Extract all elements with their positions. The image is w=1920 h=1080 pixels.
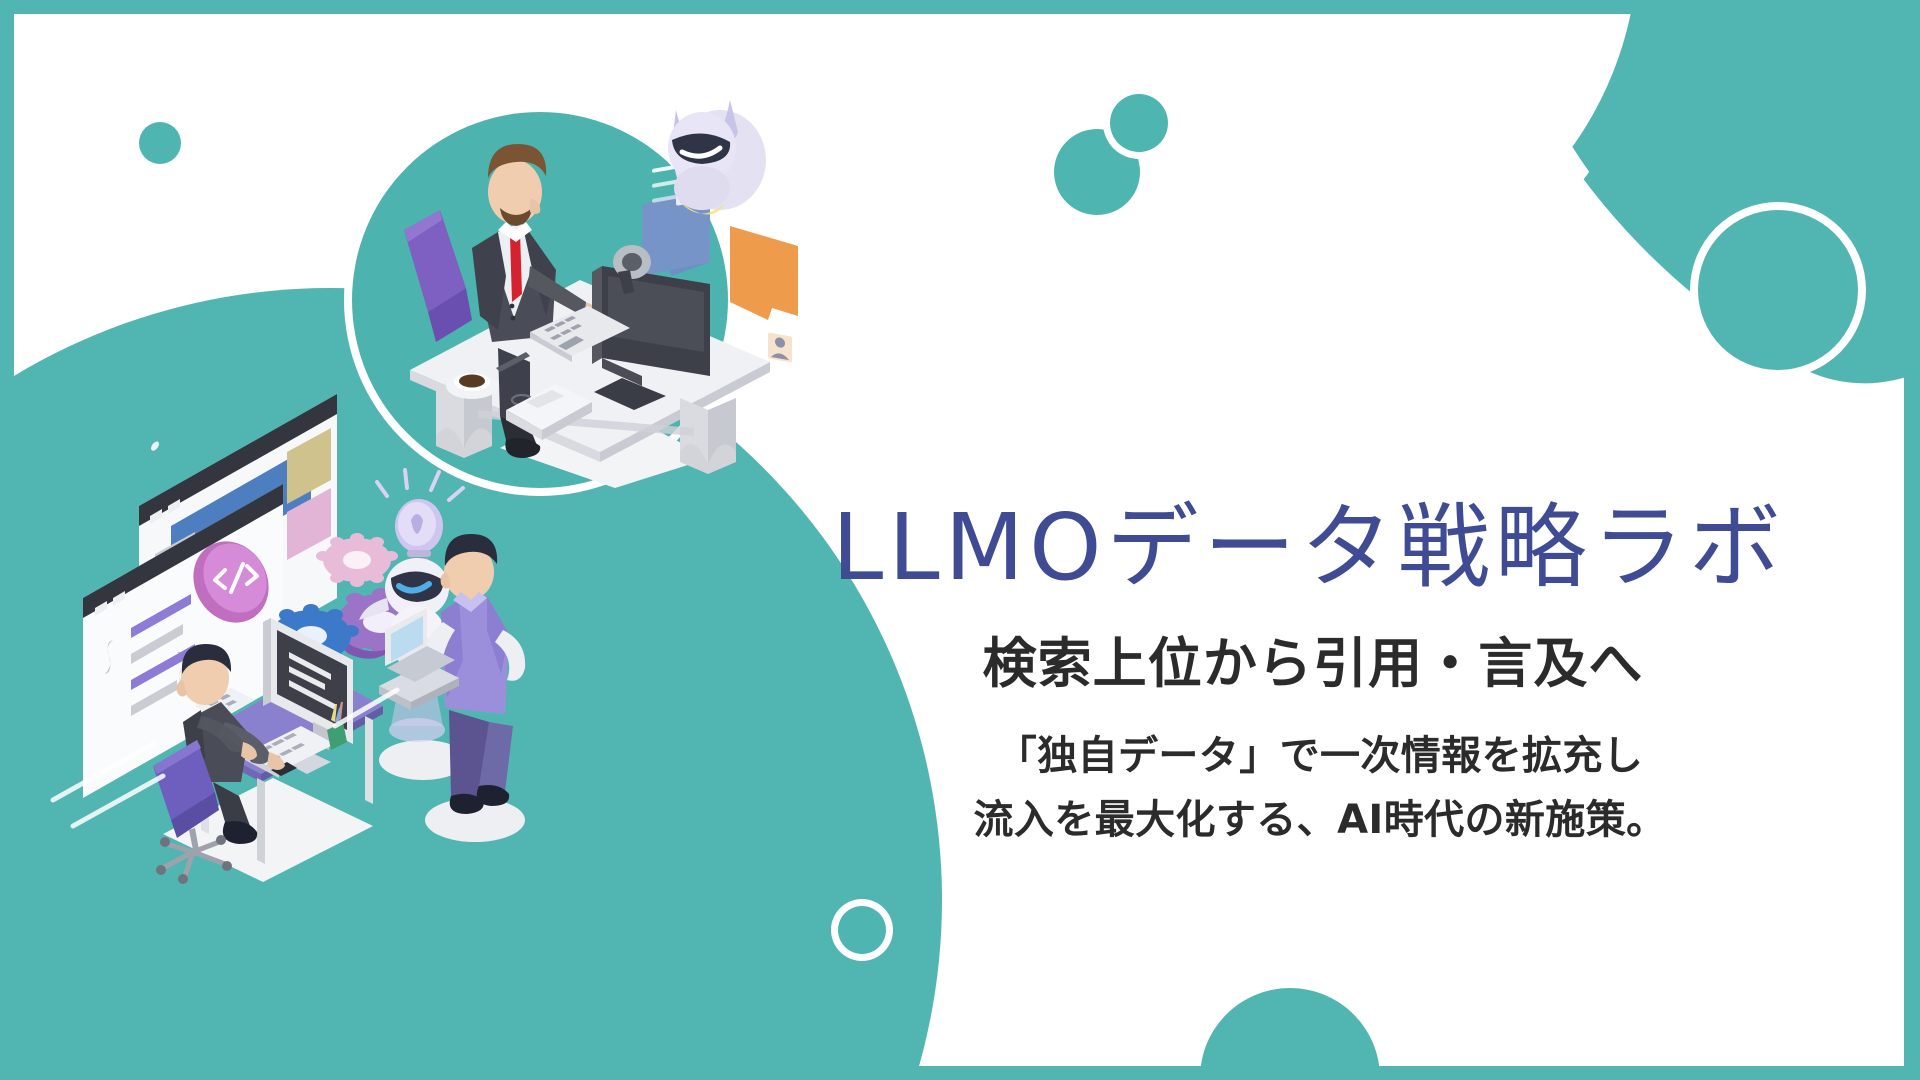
tagline: 検索上位から引用・言及へ [760,619,1840,698]
bottom-circle [1192,980,1388,1080]
small-dot-top-left [133,116,187,170]
bottom-teal-strip [0,1066,1920,1080]
banner-canvas: LLMOデータ戦略ラボ 検索上位から引用・言及へ 「独自データ」で一次情報を拡充… [0,0,1920,1080]
description-line-1: 「独自データ」で一次情報を拡充し [800,724,1840,789]
flying-robot-assistant [668,100,766,215]
description: 「独自データ」で一次情報を拡充し 流入を最大化する、AI時代の新施策。 [760,724,1840,854]
page-title: LLMOデータ戦略ラボ [760,500,1840,597]
description-line-2: 流入を最大化する、AI時代の新施策。 [800,788,1840,853]
small-dot-bottom [831,899,893,961]
banner-copy: LLMOデータ戦略ラボ 検索上位から引用・言及へ 「独自データ」で一次情報を拡充… [760,500,1840,853]
chat-bubble-orange [730,226,798,363]
illustration-developer-workspace [35,330,655,890]
developer-desk-scene [153,618,383,884]
right-edge-circle [1690,202,1866,378]
office-chair [404,210,472,342]
